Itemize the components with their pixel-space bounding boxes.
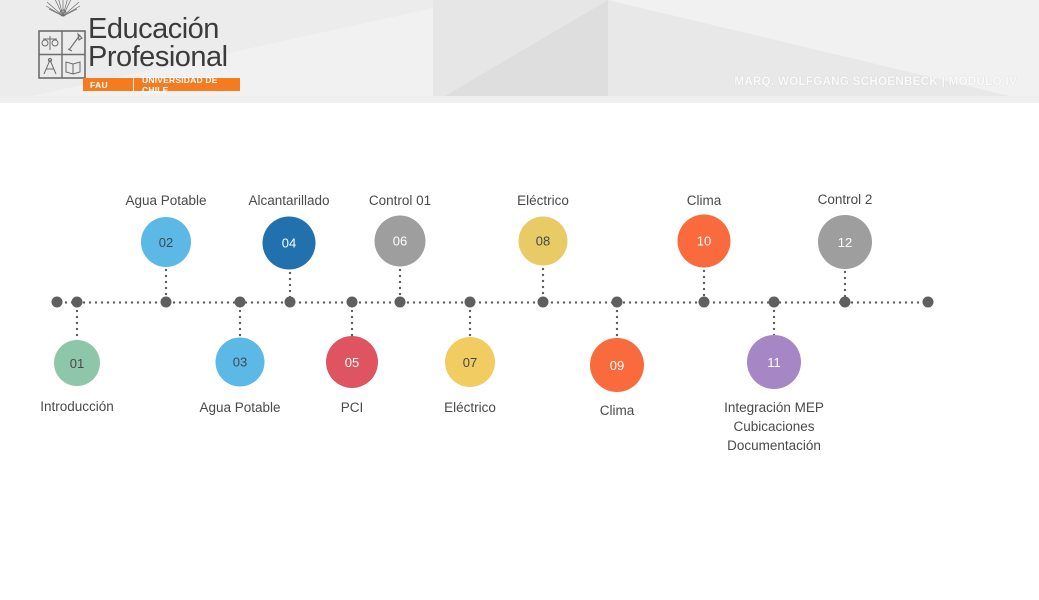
timeline-connector-08 (542, 266, 545, 303)
timeline-label-06: Control 01 (369, 191, 431, 210)
timeline-bubble-09[interactable]: 09 (590, 338, 644, 392)
timeline-connector-10 (703, 268, 706, 303)
logo-wordmark: Educación Profesional (88, 16, 228, 71)
header-credit-text: MARQ. WOLFGANG SCHOENBECK | MÓDULO IV (734, 76, 1017, 88)
university-crest-icon (38, 30, 86, 80)
page-header: Educación Profesional FAU UNIVERSIDAD DE… (0, 0, 1039, 103)
logo-bar-divider (133, 78, 134, 91)
timeline-label-08: Eléctrico (517, 191, 569, 210)
timeline-label-02: Agua Potable (125, 191, 206, 210)
timeline-connector-01 (76, 302, 79, 340)
timeline-label-11: Integración MEP Cubicaciones Documentaci… (724, 398, 824, 455)
timeline-bubble-02[interactable]: 02 (141, 217, 191, 267)
axis-end-dot (923, 297, 934, 308)
fau-uchile-logo: Educación Profesional FAU UNIVERSIDAD DE… (38, 8, 224, 94)
timeline-label-12: Control 2 (818, 190, 873, 209)
timeline-bubble-12[interactable]: 12 (818, 215, 872, 269)
timeline-bubble-06[interactable]: 06 (375, 216, 426, 267)
timeline-axis (57, 301, 928, 304)
timeline-connector-12 (844, 269, 847, 302)
logo-bar-fau: FAU (83, 80, 133, 90)
header-bottom-strip (0, 96, 1039, 103)
timeline-label-10: Clima (687, 191, 722, 210)
timeline-label-07: Eléctrico (444, 398, 496, 417)
timeline-bubble-11[interactable]: 11 (747, 335, 801, 389)
timeline-bubble-10[interactable]: 10 (678, 215, 731, 268)
logo-line-profesional: Profesional (88, 44, 228, 72)
sunburst-star-icon (46, 0, 80, 18)
timeline-connector-05 (351, 302, 354, 336)
timeline-bubble-01[interactable]: 01 (54, 340, 100, 386)
timeline-connector-07 (469, 302, 472, 337)
logo-bar-universidad: UNIVERSIDAD DE CHILE (134, 75, 240, 95)
timeline-connector-11 (773, 302, 776, 335)
timeline-label-03: Agua Potable (199, 398, 280, 417)
logo-orange-bar: FAU UNIVERSIDAD DE CHILE (83, 78, 240, 91)
timeline-label-09: Clima (600, 401, 635, 420)
timeline-label-05: PCI (341, 398, 364, 417)
timeline-connector-04 (289, 270, 292, 303)
timeline-connector-02 (165, 267, 168, 302)
timeline-bubble-03[interactable]: 03 (216, 338, 265, 387)
timeline-bubble-05[interactable]: 05 (326, 336, 378, 388)
timeline-connector-09 (616, 302, 619, 338)
logo-line-educacion: Educación (88, 16, 228, 44)
timeline-label-01: Introducción (40, 397, 114, 416)
timeline-bubble-07[interactable]: 07 (445, 337, 495, 387)
timeline-bubble-04[interactable]: 04 (263, 217, 316, 270)
timeline-diagram: 01Introducción02Agua Potable03Agua Potab… (0, 103, 1039, 600)
timeline-bubble-08[interactable]: 08 (519, 217, 568, 266)
timeline-connector-06 (399, 267, 402, 303)
axis-start-dot (52, 297, 63, 308)
timeline-connector-03 (239, 302, 242, 338)
timeline-label-04: Alcantarillado (248, 191, 329, 210)
